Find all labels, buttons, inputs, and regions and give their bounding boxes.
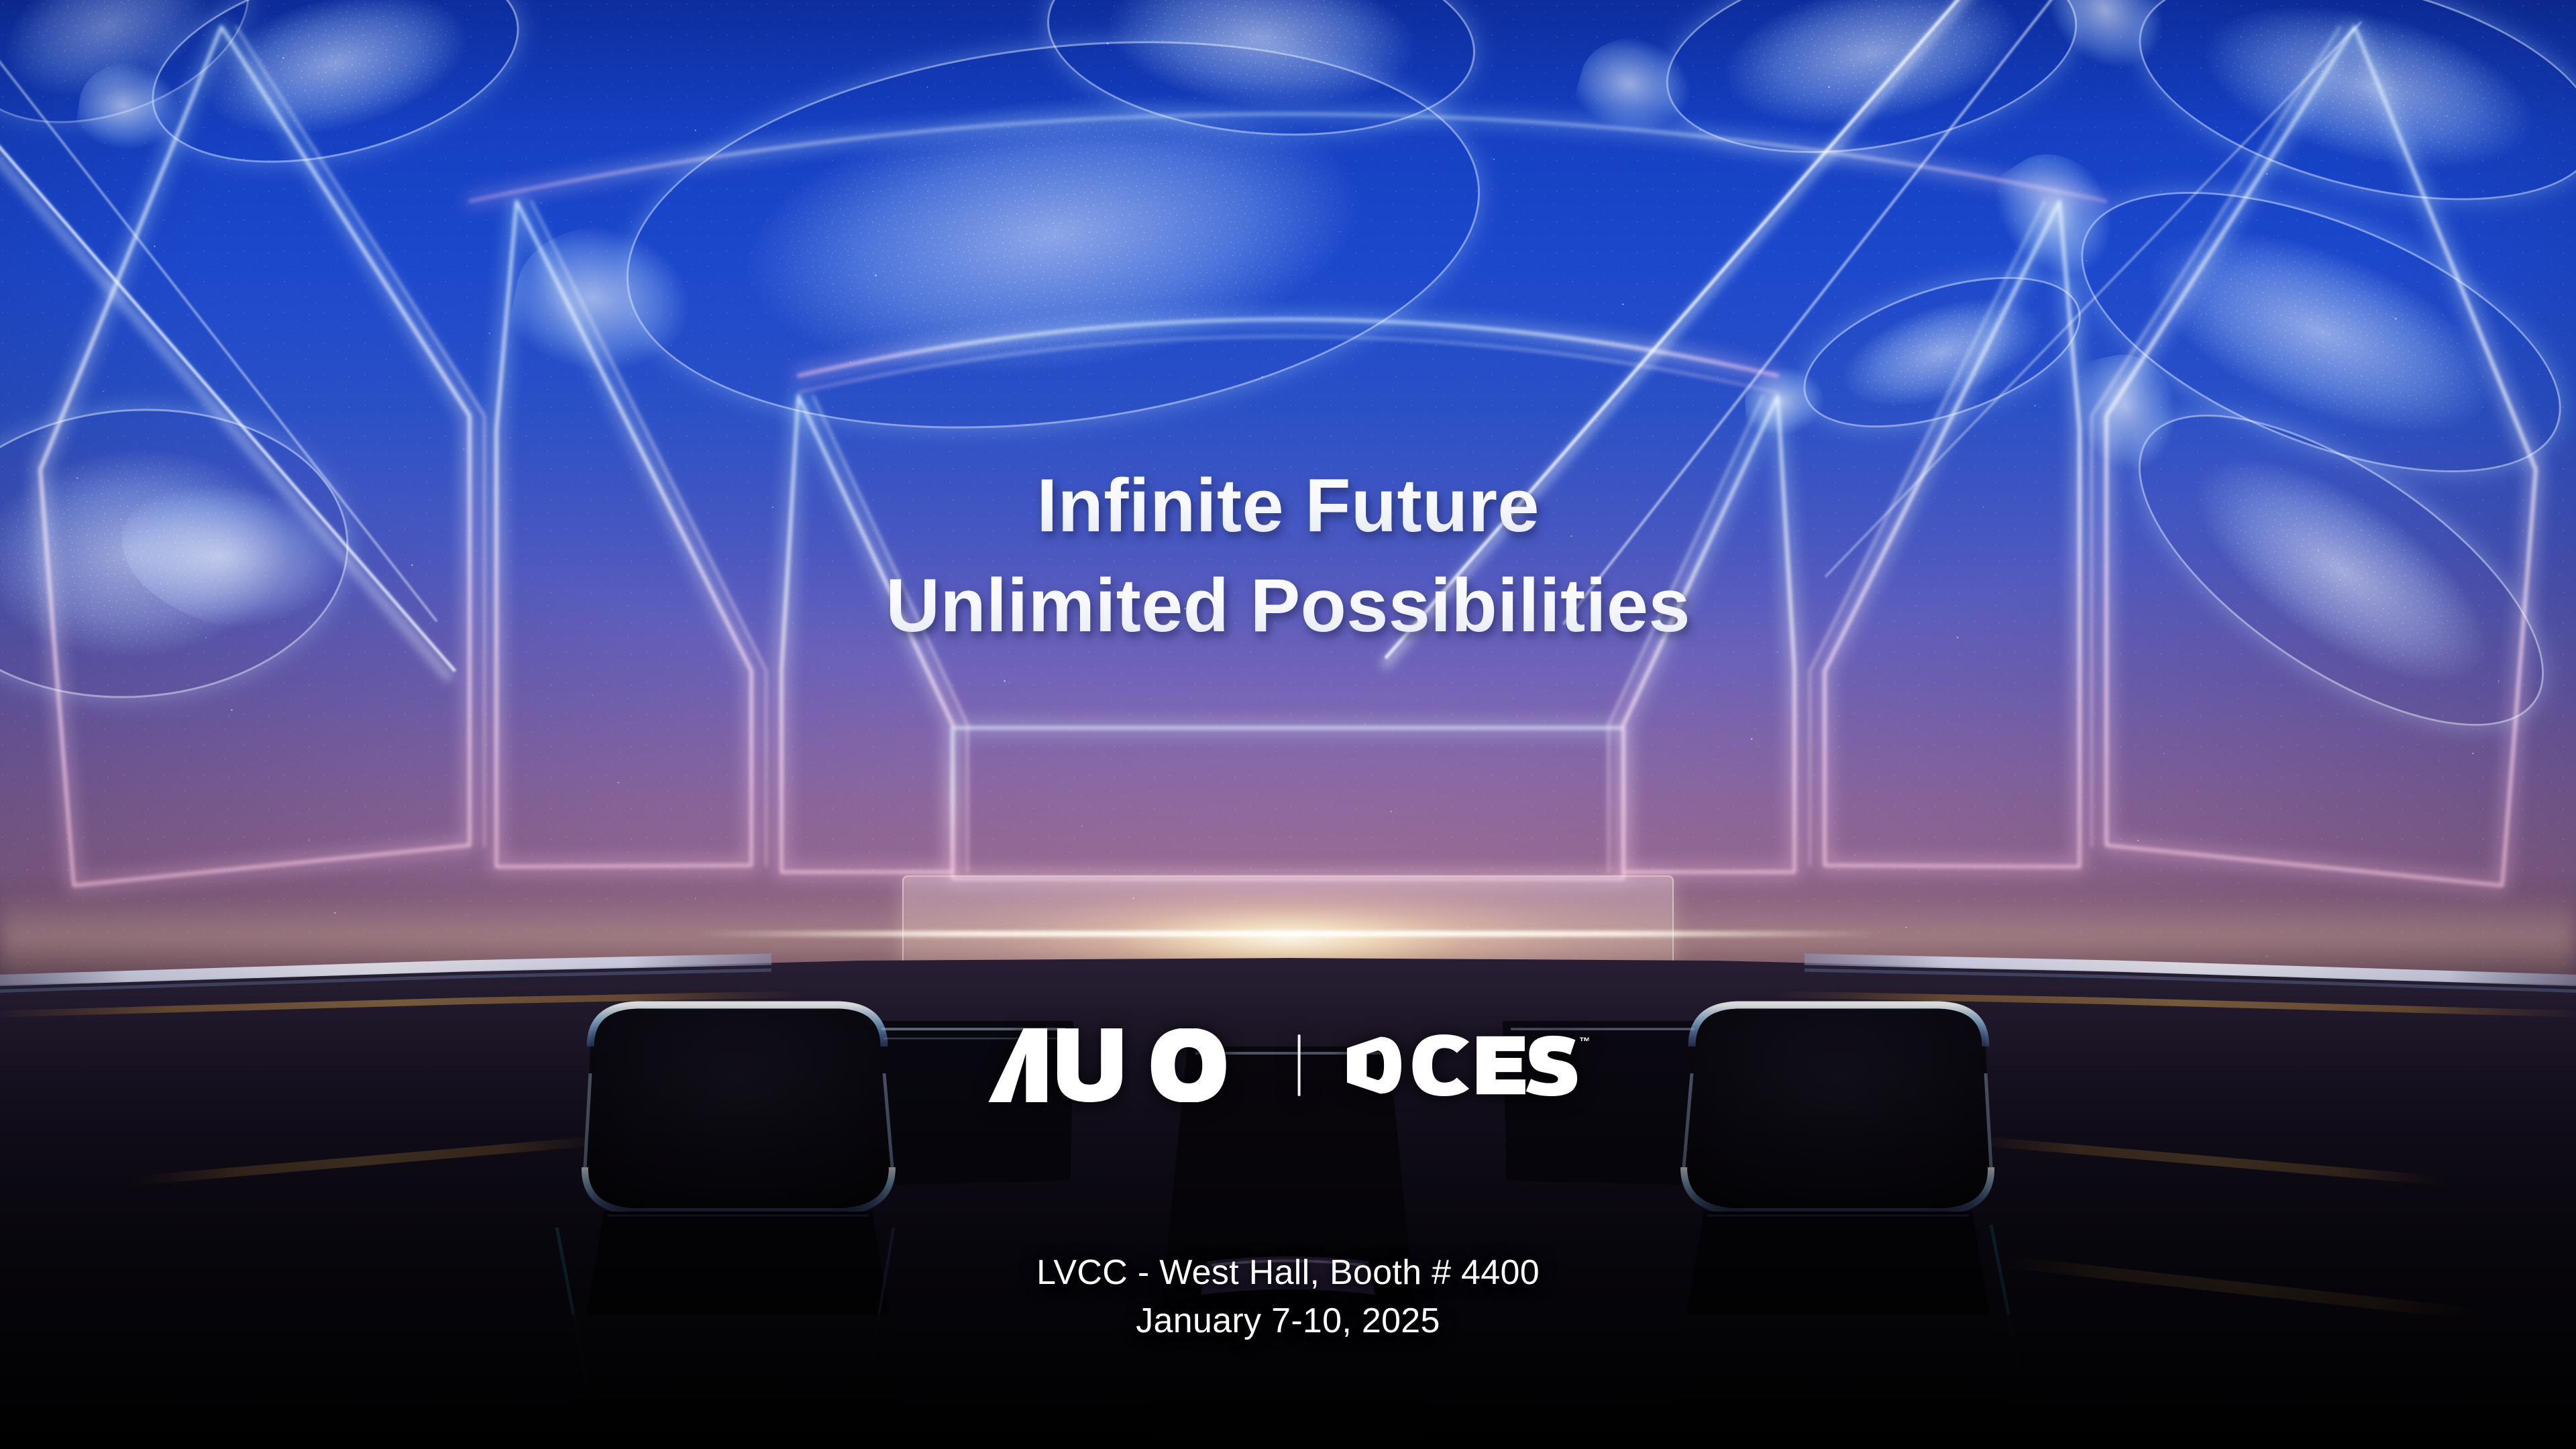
- logo-divider: [1297, 1034, 1300, 1096]
- trademark-symbol: ™: [1579, 1035, 1589, 1049]
- ces-logo: ™: [1342, 1034, 1589, 1096]
- logo-lockup: ™: [987, 1028, 1589, 1102]
- bottom-vignette: [0, 939, 2576, 1449]
- auo-logo: [987, 1028, 1256, 1102]
- promo-banner: Infinite Future Unlimited Possibilities …: [0, 0, 2576, 1449]
